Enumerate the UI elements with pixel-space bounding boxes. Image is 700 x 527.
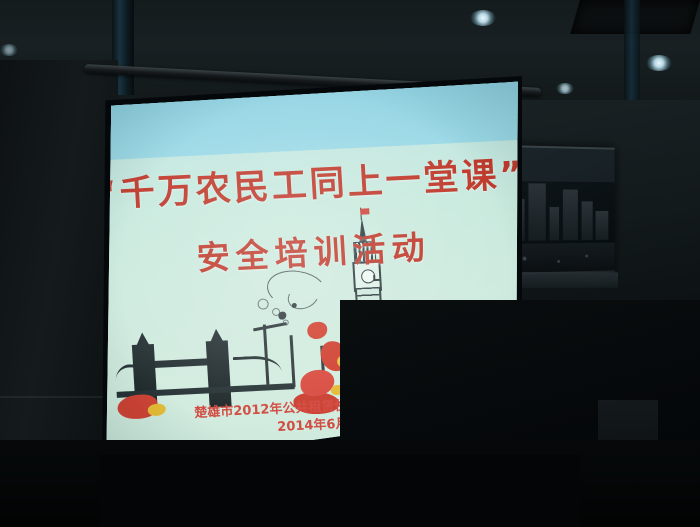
ink-dot bbox=[278, 311, 286, 319]
ink-bubble bbox=[257, 298, 269, 310]
ink-bubble bbox=[283, 319, 289, 325]
bridge-deck bbox=[117, 383, 295, 398]
bridge-upper-span bbox=[143, 358, 215, 369]
paint-splatter-red bbox=[300, 369, 336, 397]
ceiling-downlight-icon bbox=[646, 55, 672, 71]
tower-bridge-icon bbox=[112, 311, 297, 412]
clock-hand-minute bbox=[373, 275, 375, 281]
slide-title-line-2: 安全培训活动 bbox=[102, 215, 522, 286]
clock-hand-hour bbox=[373, 279, 379, 281]
ceiling-downlight-icon bbox=[556, 83, 574, 94]
construction-crane-icon bbox=[263, 324, 270, 386]
paint-splatter-red bbox=[307, 321, 328, 339]
bridge-tower bbox=[206, 340, 232, 407]
bridge-cable bbox=[116, 364, 140, 391]
lamp-pole bbox=[320, 346, 325, 386]
floor-shadow bbox=[100, 455, 580, 527]
flag-icon bbox=[360, 208, 369, 214]
ceiling-downlight-icon bbox=[0, 44, 18, 56]
flag-pole bbox=[360, 208, 362, 220]
photo-scene: “千万农民工同上一堂课” 安全培训活动 楚雄市2012年公共租赁住房阳光花园项目… bbox=[0, 0, 700, 527]
bridge-tower bbox=[132, 344, 158, 411]
ceiling-downlight-icon bbox=[470, 10, 496, 26]
crane-arm bbox=[253, 322, 287, 331]
bridge-cable bbox=[233, 355, 283, 386]
ink-swirl bbox=[284, 279, 323, 314]
wall-pillar-right bbox=[624, 0, 640, 100]
lamp-pole bbox=[290, 335, 296, 387]
ink-bubble bbox=[272, 308, 280, 316]
ink-dot bbox=[292, 303, 297, 308]
